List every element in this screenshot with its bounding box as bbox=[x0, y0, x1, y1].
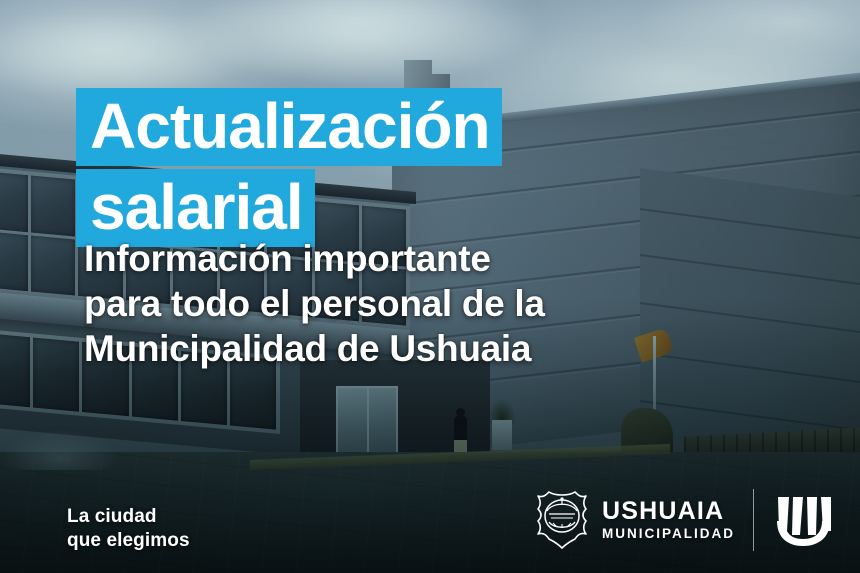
stylized-u-monogram-icon bbox=[772, 491, 834, 549]
subheadline: Información importante para todo el pers… bbox=[84, 236, 545, 371]
headline: Actualización salarial bbox=[76, 88, 502, 247]
content-layer: Actualización salarial Información impor… bbox=[0, 0, 860, 573]
municipality-logo: USHUAIA MUNICIPALIDAD bbox=[533, 489, 735, 551]
brand-lockup: USHUAIA MUNICIPALIDAD bbox=[533, 489, 834, 551]
tagline-line-1: La ciudad bbox=[67, 505, 190, 529]
subheadline-line-3: Municipalidad de Ushuaia bbox=[84, 326, 545, 371]
subheadline-line-2: para todo el personal de la bbox=[84, 281, 545, 326]
brand-wordmark: USHUAIA MUNICIPALIDAD bbox=[602, 499, 735, 541]
brand-subname: MUNICIPALIDAD bbox=[602, 527, 735, 541]
brand-divider bbox=[753, 489, 754, 551]
ushuaia-shield-crest-icon bbox=[533, 489, 591, 551]
subheadline-line-1: Información importante bbox=[84, 236, 545, 281]
brand-name: USHUAIA bbox=[602, 499, 735, 524]
headline-line-1: Actualización bbox=[76, 88, 502, 166]
tagline: La ciudad que elegimos bbox=[67, 505, 190, 553]
tagline-line-2: que elegimos bbox=[67, 529, 190, 553]
poster-canvas: Actualización salarial Información impor… bbox=[0, 0, 860, 573]
